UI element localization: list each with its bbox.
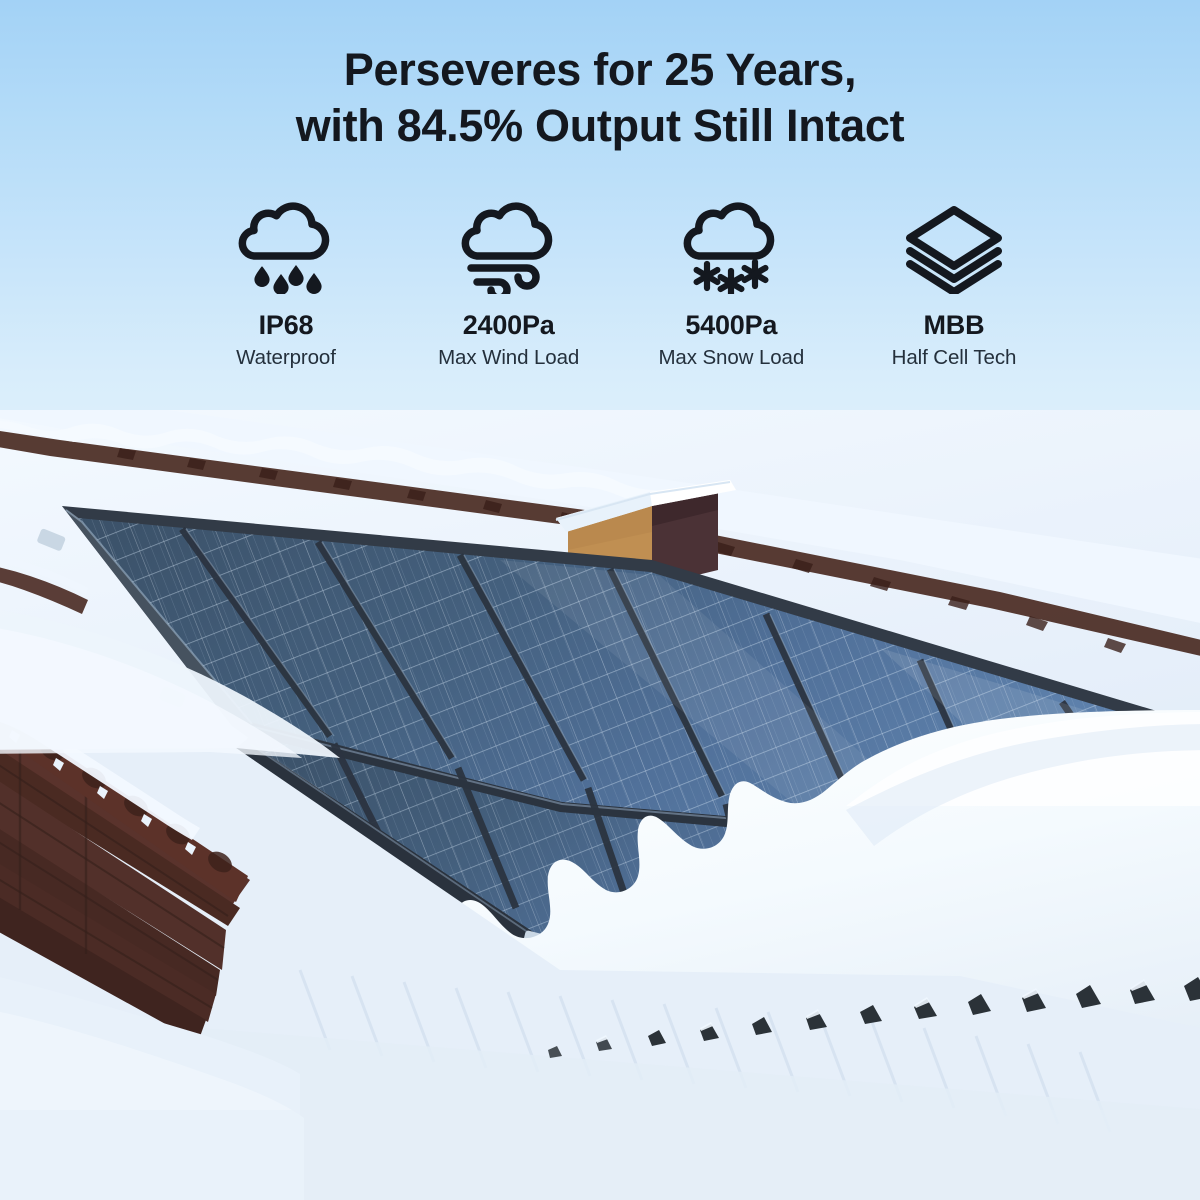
feature-label: Max Snow Load [658,346,804,370]
rain-cloud-icon [232,202,340,294]
feature-value: MBB [924,310,985,341]
feature-value: IP68 [259,310,314,341]
headline-line-2: with 84.5% Output Still Intact [0,98,1200,154]
feature-label: Half Cell Tech [892,346,1017,370]
feature-item-half-cell: MBB Half Cell Tech [846,202,1062,370]
feature-row: IP68 Waterproof 2400Pa Max Wind Load [178,202,1062,370]
wind-cloud-icon [455,202,563,294]
headline-line-1: Perseveres for 25 Years, [344,44,856,95]
page-title: Perseveres for 25 Years, with 84.5% Outp… [0,42,1200,154]
stacked-layers-icon [900,202,1008,294]
feature-label: Waterproof [236,346,336,370]
feature-label: Max Wind Load [438,346,579,370]
feature-value: 2400Pa [463,310,555,341]
feature-item-snow-load: 5400Pa Max Snow Load [623,202,839,370]
rooftop-solar-photo [0,410,1200,1200]
snow-cloud-icon [677,202,785,294]
feature-item-waterproof: IP68 Waterproof [178,202,394,370]
feature-value: 5400Pa [685,310,777,341]
feature-item-wind-load: 2400Pa Max Wind Load [401,202,617,370]
product-feature-banner: Perseveres for 25 Years, with 84.5% Outp… [0,0,1200,1200]
